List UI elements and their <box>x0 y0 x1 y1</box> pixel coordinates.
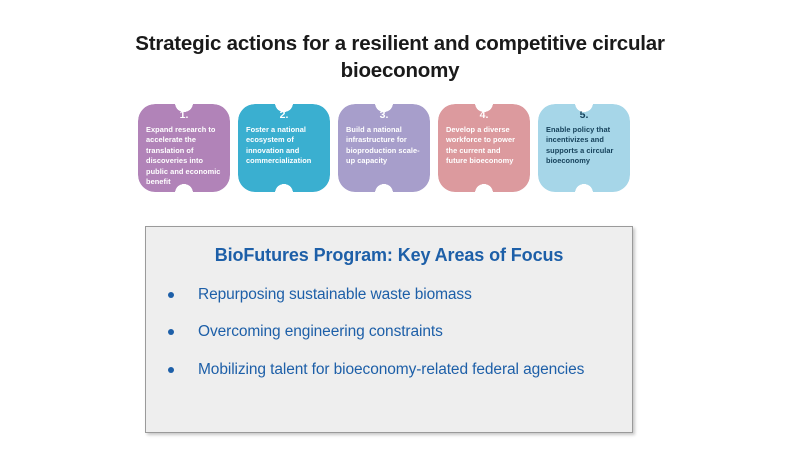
card-text: Foster a national ecosystem of innovatio… <box>246 125 322 167</box>
focus-areas-list: Repurposing sustainable waste biomass Ov… <box>146 284 632 380</box>
list-item-label: Mobilizing talent for bioeconomy-related… <box>198 359 584 380</box>
bullet-dot-icon <box>168 367 174 373</box>
list-item: Mobilizing talent for bioeconomy-related… <box>146 359 632 380</box>
card-number: 5. <box>546 110 622 122</box>
strategic-action-card-2: 2. Foster a national ecosystem of innova… <box>238 104 330 192</box>
card-tail-icon <box>377 191 391 202</box>
bullet-dot-icon <box>168 329 174 335</box>
card-tail-icon <box>477 191 491 202</box>
focus-panel: BioFutures Program: Key Areas of Focus R… <box>145 226 633 433</box>
card-tail-icon <box>577 191 591 202</box>
card-text: Enable policy that incentivizes and supp… <box>546 125 622 167</box>
page-title: Strategic actions for a resilient and co… <box>128 30 672 84</box>
card-text: Expand research to accelerate the transl… <box>146 125 222 188</box>
card-number: 2. <box>246 110 322 122</box>
strategic-action-card-3: 3. Build a national infrastructure for b… <box>338 104 430 192</box>
bullet-dot-icon <box>168 292 174 298</box>
list-item-label: Repurposing sustainable waste biomass <box>198 284 472 305</box>
card-number: 3. <box>346 110 422 122</box>
focus-panel-heading: BioFutures Program: Key Areas of Focus <box>146 245 632 266</box>
card-number: 4. <box>446 110 522 122</box>
card-number: 1. <box>146 110 222 122</box>
card-text: Develop a diverse workforce to power the… <box>446 125 522 167</box>
strategic-action-card-1: 1. Expand research to accelerate the tra… <box>138 104 230 192</box>
list-item: Repurposing sustainable waste biomass <box>146 284 632 305</box>
card-text: Build a national infrastructure for biop… <box>346 125 422 167</box>
strategic-actions-row: 1. Expand research to accelerate the tra… <box>138 104 662 210</box>
list-item-label: Overcoming engineering constraints <box>198 321 443 342</box>
list-item: Overcoming engineering constraints <box>146 321 632 342</box>
strategic-action-card-4: 4. Develop a diverse workforce to power … <box>438 104 530 192</box>
card-tail-icon <box>277 191 291 202</box>
strategic-action-card-5: 5. Enable policy that incentivizes and s… <box>538 104 630 192</box>
card-tail-icon <box>177 191 191 202</box>
